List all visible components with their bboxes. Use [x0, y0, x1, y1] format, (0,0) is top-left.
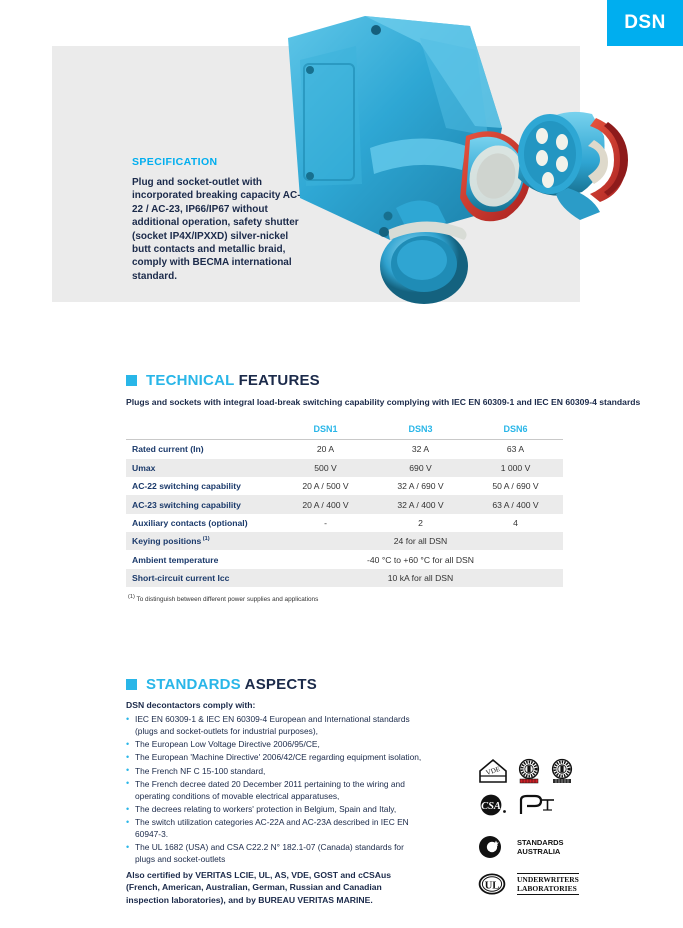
square-bullet-icon — [126, 375, 137, 386]
standards-bullet-item: The switch utilization categories AC-22A… — [126, 817, 426, 841]
product-photo-group — [270, 8, 630, 308]
table-row-label: Keying positions (1) — [126, 532, 278, 550]
footnote-marker: (1) — [128, 594, 135, 600]
standards-bullet-item: The European Low Voltage Directive 2006/… — [126, 739, 426, 751]
table-row-label: Rated current (In) — [126, 440, 278, 459]
table-cell-value: 500 V — [278, 459, 373, 477]
table-cell-value: 63 A — [468, 440, 563, 459]
table-row-label: Auxiliary contacts (optional) — [126, 514, 278, 532]
table-cell-value: 690 V — [373, 459, 468, 477]
table-cell-value: 20 A / 400 V — [278, 495, 373, 513]
standards-bullet-item: The European 'Machine Directive' 2006/42… — [126, 752, 426, 764]
vde-logo: VDE — [478, 758, 508, 784]
table-col-dsn3: DSN3 — [373, 420, 468, 440]
table-cell-value: 32 A / 690 V — [373, 477, 468, 495]
certification-logos: VDE CSA — [478, 758, 598, 904]
standards-bullet-item: The French decree dated 20 December 2011… — [126, 779, 426, 803]
standards-bullet-item: The French NF C 15-100 standard, — [126, 766, 426, 778]
table-cell-value: -40 °C to +60 °C for all DSN — [278, 550, 563, 568]
table-row: Rated current (In)20 A32 A63 A — [126, 440, 563, 459]
standards-bullet-item: IEC EN 60309-1 & IEC EN 60309-4 European… — [126, 714, 426, 738]
table-row-label: Umax — [126, 459, 278, 477]
table-cell-value: 32 A — [373, 440, 468, 459]
table-row-label: Short-circuit current Icc — [126, 569, 278, 587]
standards-bullet-list: IEC EN 60309-1 & IEC EN 60309-4 European… — [126, 714, 426, 866]
table-col-dsn1: DSN1 — [278, 420, 373, 440]
table-body: Rated current (In)20 A32 A63 AUmax500 V6… — [126, 440, 563, 588]
table-row-label: AC-23 switching capability — [126, 495, 278, 513]
logo-row-standards-australia: STANDARDS AUSTRALIA — [478, 835, 598, 859]
standards-title-main: ASPECTS — [245, 676, 317, 693]
standards-title-accent: STANDARDS — [146, 676, 245, 693]
technical-features-table: DSN1 DSN3 DSN6 Rated current (In)20 A32 … — [126, 420, 563, 587]
standards-bullet-item: The UL 1682 (USA) and CSA C22.2 N° 182.1… — [126, 842, 426, 866]
technical-title-accent: TECHNICAL — [146, 372, 239, 389]
logo-row-middle: CSA — [478, 793, 598, 817]
table-row-label-superscript: (1) — [201, 536, 209, 542]
table-cell-value: 32 A / 400 V — [373, 495, 468, 513]
dsn-tab-label: DSN — [624, 12, 666, 34]
technical-features-section: TECHNICAL FEATURES Plugs and sockets wit… — [126, 372, 640, 603]
standards-aspects-section: STANDARDS ASPECTS DSN decontactors compl… — [126, 676, 426, 906]
logo-row-underwriters-laboratories: UL UNDERWRITERS LABORATORIES — [478, 873, 598, 895]
standards-australia-line1: STANDARDS — [517, 838, 564, 847]
ul-line2: LABORATORIES — [517, 884, 579, 893]
technical-features-heading: TECHNICAL FEATURES — [126, 372, 640, 389]
svg-text:CSA: CSA — [481, 801, 501, 812]
csa-logo: CSA — [478, 793, 508, 817]
standards-bullet-item: The decrees relating to workers' protect… — [126, 804, 426, 816]
standards-aspects-heading: STANDARDS ASPECTS — [126, 676, 426, 693]
table-row: Keying positions (1)24 for all DSN — [126, 532, 563, 550]
table-col-dsn6: DSN6 — [468, 420, 563, 440]
table-col-label — [126, 420, 278, 440]
standards-intro: DSN decontactors comply with: — [126, 700, 426, 710]
ul-mark-icon: UL — [478, 873, 508, 895]
table-cell-value: 2 — [373, 514, 468, 532]
technical-subtitle: Plugs and sockets with integral load-bre… — [126, 396, 640, 408]
table-cell-value: 20 A / 500 V — [278, 477, 373, 495]
square-bullet-icon — [126, 679, 137, 690]
table-row-label: Ambient temperature — [126, 550, 278, 568]
table-row: Short-circuit current Icc10 kA for all D… — [126, 569, 563, 587]
certification-seal-2 — [550, 758, 574, 784]
footnote-text: To distinguish between different power s… — [137, 596, 319, 603]
underwriters-laboratories-label: UNDERWRITERS LABORATORIES — [517, 873, 579, 895]
table-row: Umax500 V690 V1 000 V — [126, 459, 563, 477]
plug-photo — [518, 112, 628, 220]
table-row: AC-23 switching capability20 A / 400 V32… — [126, 495, 563, 513]
pct-gost-logo — [517, 793, 557, 817]
standards-australia-icon — [478, 835, 508, 859]
table-row-label: AC-22 switching capability — [126, 477, 278, 495]
table-cell-value: 63 A / 400 V — [468, 495, 563, 513]
standards-australia-line2: AUSTRALIA — [517, 847, 564, 856]
table-cell-value: - — [278, 514, 373, 532]
technical-title-main: FEATURES — [239, 372, 320, 389]
table-cell-value: 20 A — [278, 440, 373, 459]
table-row: AC-22 switching capability20 A / 500 V32… — [126, 477, 563, 495]
logo-row-top: VDE — [478, 758, 598, 784]
table-row: Auxiliary contacts (optional)-24 — [126, 514, 563, 532]
table-cell-value: 10 kA for all DSN — [278, 569, 563, 587]
svg-text:VDE: VDE — [485, 765, 501, 777]
table-cell-value: 50 A / 690 V — [468, 477, 563, 495]
certification-seal-1 — [517, 758, 541, 784]
standards-australia-label: STANDARDS AUSTRALIA — [517, 838, 564, 856]
ul-line1: UNDERWRITERS — [517, 875, 579, 884]
svg-text:UL: UL — [485, 880, 500, 891]
table-cell-value: 4 — [468, 514, 563, 532]
table-footnote: (1) To distinguish between different pow… — [126, 594, 640, 603]
table-cell-value: 24 for all DSN — [278, 532, 563, 550]
standards-footer: Also certified by VERITAS LCIE, UL, AS, … — [126, 869, 426, 906]
table-cell-value: 1 000 V — [468, 459, 563, 477]
table-header-row: DSN1 DSN3 DSN6 — [126, 420, 563, 440]
table-row: Ambient temperature-40 °C to +60 °C for … — [126, 550, 563, 568]
